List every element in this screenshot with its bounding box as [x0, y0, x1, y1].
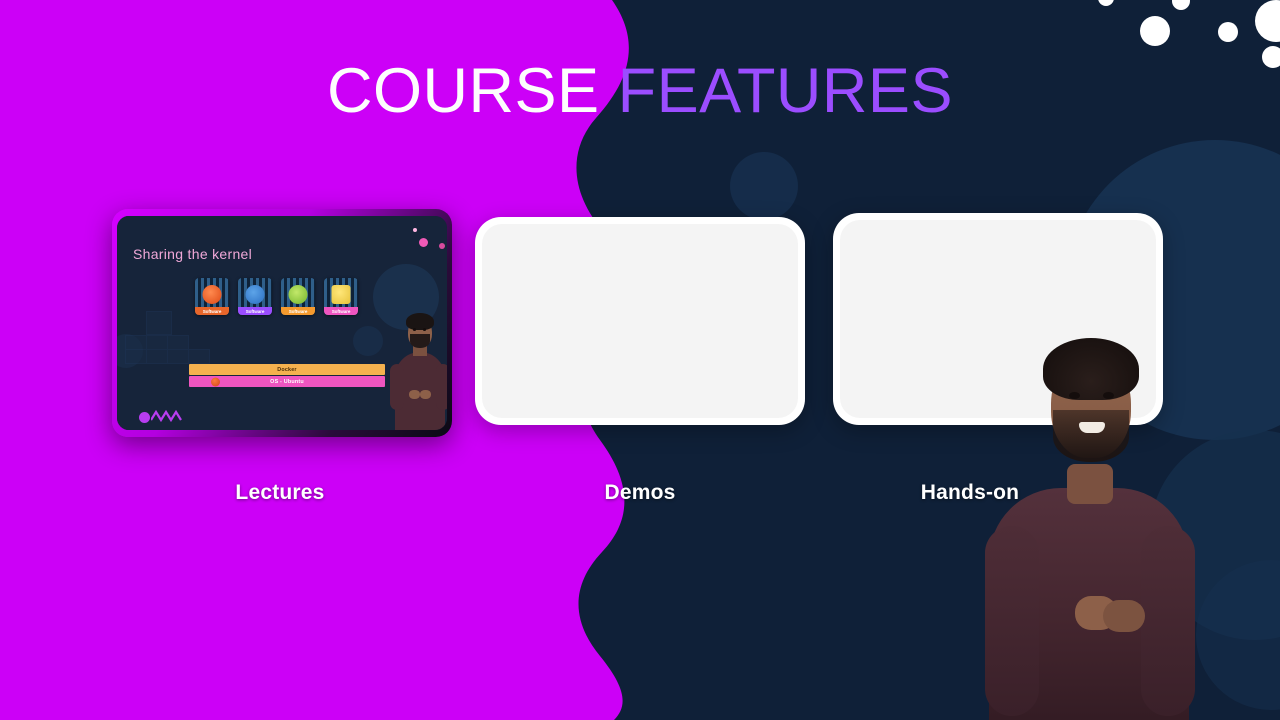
preview-pink-dot-3 [413, 228, 417, 232]
software-box-label: Software [238, 307, 272, 315]
presenter-eye-right [1103, 392, 1114, 399]
software-box-label: Software [324, 307, 358, 315]
demos-card-surface [482, 224, 798, 418]
preview-software-row: Software Software Software Software [195, 278, 358, 315]
docker-layer-bar: Docker [189, 364, 385, 375]
software-box-label: Software [281, 307, 315, 315]
software-box: Software [281, 278, 315, 315]
ubuntu-logo-icon [211, 377, 220, 386]
preview-pink-dot-1 [419, 238, 428, 247]
os-layer-bar: OS - Ubuntu [189, 376, 385, 387]
lectures-preview-screen: Sharing the kernel Software Software Sof… [117, 216, 447, 430]
zigzag-ball-icon [139, 412, 150, 423]
presenter-mouth [1079, 422, 1105, 433]
software-box: Software [324, 278, 358, 315]
software-box-label: Software [195, 307, 229, 315]
software-box: Software [238, 278, 272, 315]
ubuntu-logo-icon [203, 285, 222, 304]
presenter-arm-left [985, 526, 1039, 716]
presenter-eye-left [1069, 392, 1080, 399]
presenter-neck [1067, 464, 1113, 504]
docker-layer-label: Docker [277, 367, 296, 373]
title-word-course: COURSE [327, 56, 600, 126]
preview-pink-dot-2 [439, 243, 445, 249]
distro-logo-icon [332, 285, 351, 304]
fedora-logo-icon [246, 285, 265, 304]
preview-slide-title: Sharing the kernel [133, 246, 252, 262]
slide-canvas: COURSE FEATURES Sharing th [0, 0, 1280, 720]
opensuse-logo-icon [289, 285, 308, 304]
lectures-preview-card[interactable]: Sharing the kernel Software Software Sof… [112, 209, 452, 437]
presenter-overlay [975, 318, 1205, 720]
preview-decor-blob-2 [353, 326, 383, 356]
page-title: COURSE FEATURES [0, 57, 1280, 126]
presenter-hair [1043, 338, 1139, 400]
software-box: Software [195, 278, 229, 315]
title-word-features: FEATURES [618, 56, 953, 126]
presenter-hand-right [1103, 600, 1145, 632]
presenter-beard [1053, 410, 1129, 462]
preview-presenter-avatar [389, 308, 447, 430]
demos-card[interactable] [475, 217, 805, 425]
os-layer-label: OS - Ubuntu [270, 379, 304, 385]
demos-card-label: Demos [520, 481, 760, 505]
lectures-card-label: Lectures [160, 481, 400, 505]
presenter-arm-right [1141, 526, 1195, 716]
